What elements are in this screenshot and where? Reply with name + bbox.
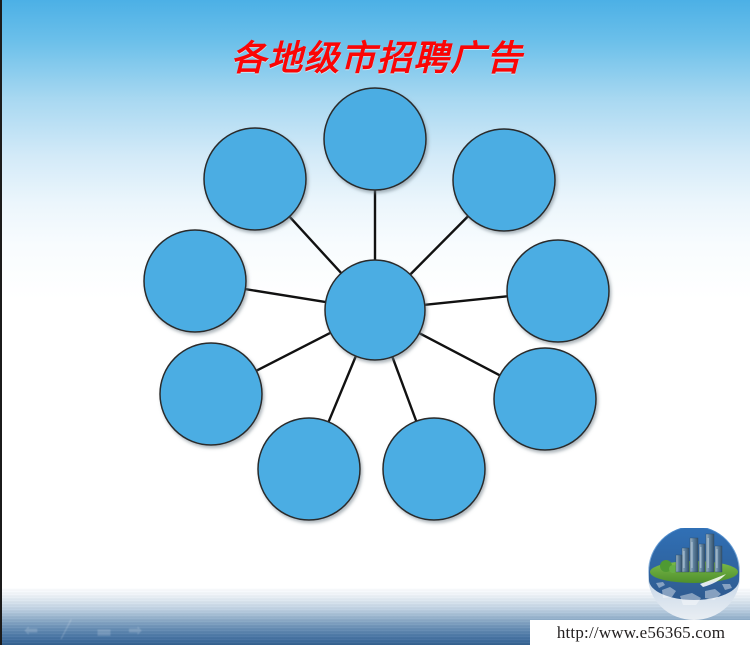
spoke-line-5 — [392, 356, 417, 422]
back-arrow-glyph: ⬅ — [24, 623, 38, 640]
spoke-line-7 — [256, 332, 332, 371]
node-circle[interactable] — [324, 88, 426, 190]
diagram-center-node[interactable] — [325, 260, 425, 360]
watermark-url: http://www.e56365.com — [530, 620, 750, 645]
diagram-node-7[interactable] — [160, 343, 262, 445]
spoke-line-8 — [244, 289, 326, 302]
node-circle[interactable] — [453, 129, 555, 231]
center-node-circle[interactable] — [325, 260, 425, 360]
spoke-line-4 — [418, 333, 500, 376]
globe-city-icon — [642, 528, 746, 620]
pencil-glyph: ╱ — [61, 622, 71, 639]
spoke-line-9 — [289, 216, 342, 274]
node-circle[interactable] — [160, 343, 262, 445]
diagram-node-4[interactable] — [494, 348, 596, 450]
diagram-node-2[interactable] — [453, 129, 555, 231]
radial-hub-and-spoke-diagram — [2, 0, 750, 645]
diagram-node-9[interactable] — [204, 128, 306, 230]
spoke-line-2 — [410, 215, 469, 275]
node-circle[interactable] — [494, 348, 596, 450]
node-circle[interactable] — [258, 418, 360, 520]
diagram-node-1[interactable] — [324, 88, 426, 190]
diagram-node-8[interactable] — [144, 230, 246, 332]
diagram-canvas — [2, 0, 750, 645]
node-circle[interactable] — [383, 418, 485, 520]
diagram-node-6[interactable] — [258, 418, 360, 520]
diagram-node-5[interactable] — [383, 418, 485, 520]
diagram-node-3[interactable] — [507, 240, 609, 342]
spoke-line-3 — [424, 296, 509, 305]
forward-arrow-glyph: ➡ — [128, 623, 142, 640]
spoke-line-6 — [328, 355, 356, 423]
presentation-slide: 各地级市招聘广告 — [0, 0, 750, 645]
diagram-center-node-group — [325, 260, 425, 360]
node-circle[interactable] — [144, 230, 246, 332]
node-circle[interactable] — [507, 240, 609, 342]
node-circle[interactable] — [204, 128, 306, 230]
square-glyph: ▬ — [96, 624, 112, 641]
